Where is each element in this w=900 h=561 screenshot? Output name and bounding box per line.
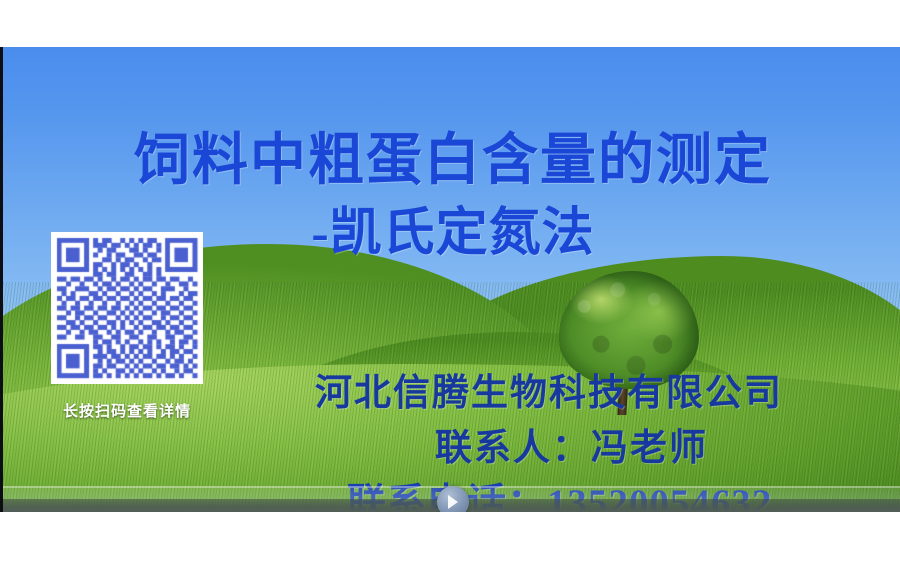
contact-person-text: 联系人：冯老师 [435, 417, 708, 471]
play-button[interactable] [437, 486, 469, 512]
qr-code-image[interactable] [51, 232, 203, 384]
qr-caption-label: 长按扫码查看详情 [51, 400, 203, 421]
play-icon [448, 495, 458, 509]
video-player[interactable]: 饲料中粗蛋白含量的测定 -凯氏定氮法 长按扫码查看详情 河北信腾生物科技有限公司… [0, 47, 900, 512]
slide-title-main: 饲料中粗蛋白含量的测定 [134, 115, 772, 196]
company-name-text: 河北信腾生物科技有限公司 [315, 362, 783, 416]
page-bottom-margin [0, 512, 900, 561]
page-root: 饲料中粗蛋白含量的测定 -凯氏定氮法 长按扫码查看详情 河北信腾生物科技有限公司… [0, 0, 900, 561]
qr-block[interactable]: 长按扫码查看详情 [51, 232, 203, 421]
page-top-margin [0, 0, 900, 47]
slide-title-subtitle: -凯氏定氮法 [311, 190, 594, 265]
